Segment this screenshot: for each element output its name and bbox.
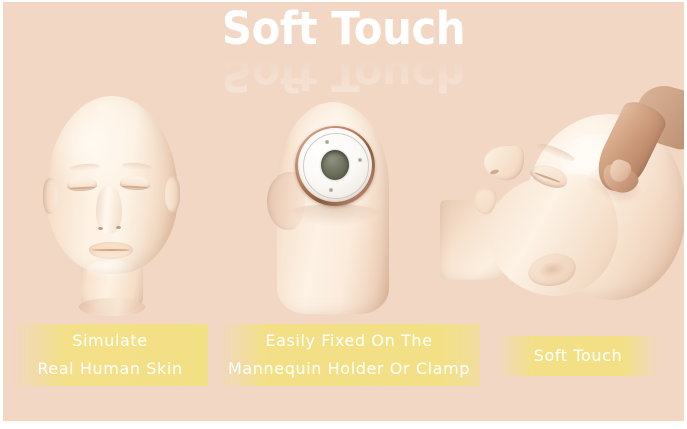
left-nostril — [98, 227, 103, 230]
caption-line-1: Easily Fixed On The — [265, 327, 432, 355]
caption-line-1: Simulate — [72, 327, 148, 355]
frame-top-edge — [0, 0, 687, 2]
caption-line-2: Real Human Skin — [37, 355, 182, 383]
screw-hole-bottom — [329, 188, 333, 192]
head-neck-base — [79, 298, 145, 316]
screw-hole-right — [358, 158, 362, 162]
product-image-front-head — [34, 92, 194, 317]
right-ear — [165, 176, 180, 212]
frame-bottom-edge — [0, 421, 687, 429]
side-head-nose — [484, 146, 524, 180]
caption-line-1: Soft Touch — [534, 342, 623, 370]
caption-line-2: Mannequin Holder Or Clamp — [228, 355, 470, 383]
product-image-finger-press — [440, 104, 687, 319]
chin-highlight — [86, 260, 136, 280]
threaded-socket — [321, 150, 349, 180]
frame-left-edge — [0, 0, 3, 429]
feature-caption-easily-fixed: Easily Fixed On The Mannequin Holder Or … — [218, 324, 480, 386]
screw-hole-top — [325, 140, 329, 144]
feature-caption-soft-touch: Soft Touch — [497, 336, 659, 376]
lips — [89, 242, 133, 259]
product-image-mounting-plate — [263, 100, 403, 315]
head-rear-shadow — [285, 204, 383, 226]
left-ear — [43, 178, 58, 214]
product-feature-banner: Soft Touch Soft Touch — [0, 0, 687, 429]
right-nostril — [116, 226, 121, 229]
feature-caption-simulate-real-human-skin: Simulate Real Human Skin — [12, 324, 208, 386]
